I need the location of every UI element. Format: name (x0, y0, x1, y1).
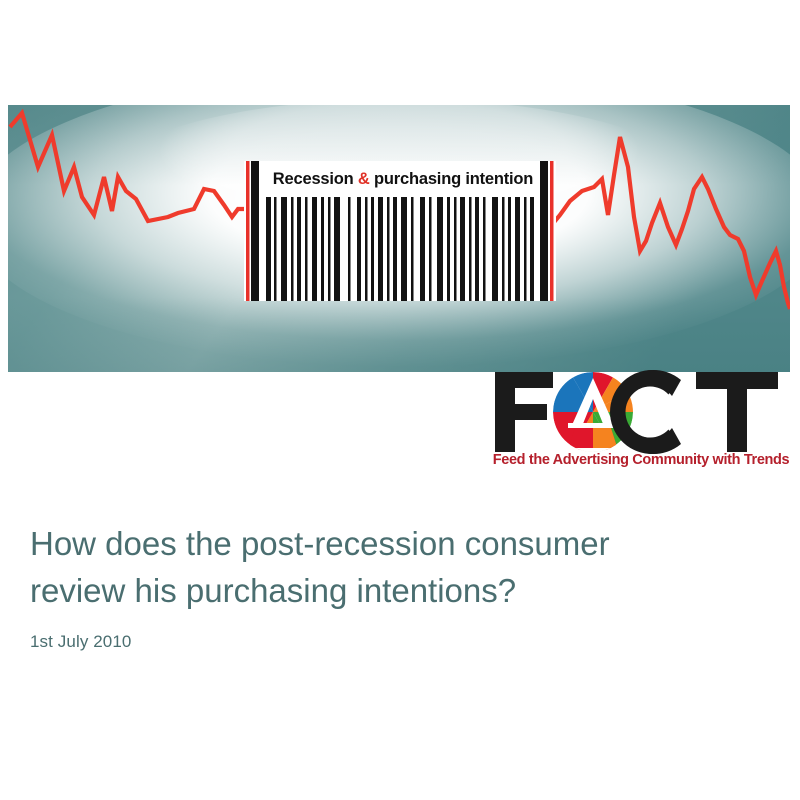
fact-tagline: Feed the Advertising Community with Tren… (492, 452, 790, 468)
fact-wordmark (490, 366, 790, 454)
barcode-caption-ampersand: & (358, 170, 370, 188)
fact-letter-c-body (610, 370, 678, 454)
barcode-caption-suffix: purchasing intention (370, 170, 534, 188)
barcode-caption: Recession & purchasing intention (258, 166, 548, 192)
title-slide: Recession & purchasing intention (0, 0, 800, 800)
page-title: How does the post-recession consumer rev… (30, 520, 770, 614)
barcode-caption-prefix: Recession (273, 170, 358, 188)
hero-banner (8, 105, 790, 372)
slide-date: 1st July 2010 (30, 632, 770, 652)
fact-letter-f (495, 372, 553, 452)
page-title-line-1: How does the post-recession consumer (30, 520, 770, 567)
page-title-line-2: review his purchasing intentions? (30, 567, 770, 614)
fact-logo: Feed the Advertising Community with Tren… (490, 366, 790, 478)
fact-letter-t (696, 372, 778, 452)
fact-wordmark-artwork (490, 366, 790, 454)
headline-block: How does the post-recession consumer rev… (30, 520, 770, 652)
